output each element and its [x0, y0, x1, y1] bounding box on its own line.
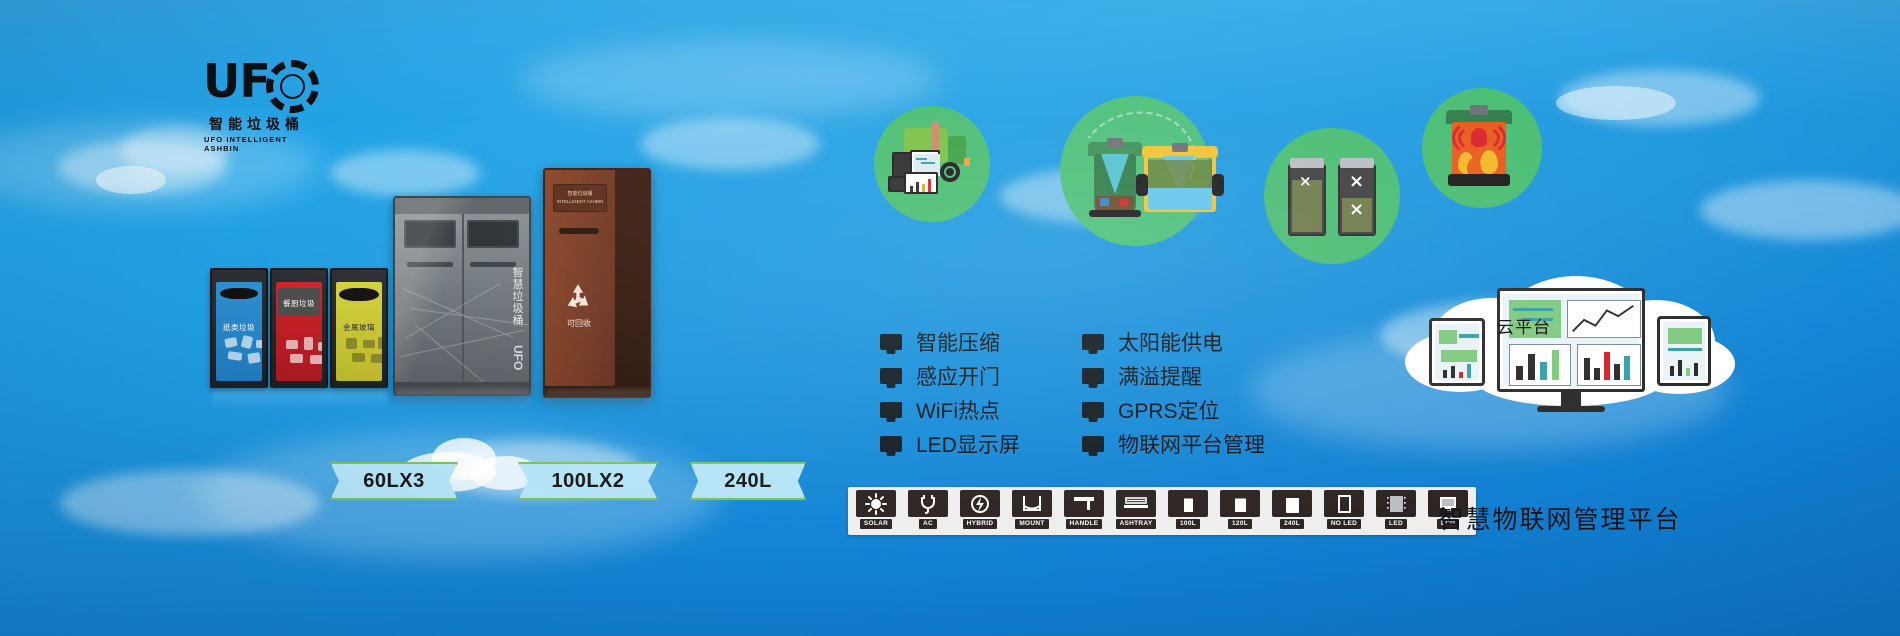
- spec-240l: 240L: [1268, 490, 1316, 532]
- spec-100l: 100L: [1164, 490, 1212, 532]
- spec-ac: AC: [904, 490, 952, 532]
- bin-graphics: [280, 334, 318, 377]
- fire-alarm-bin-icon: [1422, 88, 1542, 208]
- ashtray-icon: [1116, 490, 1156, 517]
- fill-level-sensor-circle: [1060, 96, 1210, 246]
- panel-subtitle: INTELLIGENT ASHBIN: [554, 199, 606, 204]
- spec-no-led: NO LED: [1320, 490, 1368, 532]
- bin-graphics: [340, 334, 378, 377]
- spec-hybrid: HYBRID: [956, 490, 1004, 532]
- feature-item: 智能压缩: [880, 325, 1020, 359]
- spec-caption: NO LED: [1327, 519, 1361, 529]
- bin-reflection: [545, 389, 651, 411]
- bin-graphics: [220, 334, 258, 377]
- feature-label: LED显示屏: [916, 429, 1020, 459]
- spec-mount: MOUNT: [1008, 490, 1056, 532]
- feature-label: 智能压缩: [916, 327, 1000, 357]
- feature-label: 太阳能供电: [1118, 327, 1223, 357]
- ribbon-label: 240L: [724, 470, 772, 493]
- iot-platform-illustration: [1405, 260, 1735, 450]
- monitor-bullet-icon: [880, 334, 902, 350]
- spec-caption: 100L: [1176, 519, 1200, 529]
- monitor-bullet-icon: [880, 436, 902, 452]
- double-compartment-bin: 智慧垃圾桶 UFO: [393, 196, 531, 396]
- feature-label: GPRS定位: [1118, 395, 1220, 425]
- bin-slot: [339, 288, 379, 301]
- feature-item: GPRS定位: [1082, 393, 1265, 427]
- ufo-ring-icon: [266, 60, 319, 113]
- monitor-bullet-icon: [880, 402, 902, 418]
- cloud-soft: [60, 470, 320, 536]
- bin-face: 纸类垃圾: [216, 282, 262, 381]
- spec-caption: AC: [919, 519, 937, 529]
- logo-wordmark: UF: [203, 58, 270, 104]
- bin-sheen: [395, 198, 529, 394]
- recycle-icon: [561, 280, 595, 314]
- feature-item: WiFi热点: [880, 393, 1020, 427]
- feature-item: 太阳能供电: [1082, 325, 1265, 359]
- cloud-puff: [96, 166, 166, 194]
- feature-item: 物联网平台管理: [1082, 427, 1265, 461]
- spec-handle: HANDLE: [1060, 490, 1108, 532]
- bin-dark-side: [615, 170, 649, 396]
- fleet-monitoring-circle: [874, 106, 990, 222]
- monitor-bullet-icon: [1082, 334, 1104, 350]
- logo-english-name: UFO INTELLIGENT ASHBIN: [204, 135, 323, 153]
- bin-100l-icon: [1168, 490, 1208, 517]
- spec-icon-strip: SOLAR AC HYBRID: [848, 487, 1476, 535]
- tablet-right: [1657, 316, 1711, 386]
- single-brown-bin: 智能垃圾桶 INTELLIGENT ASHBIN 可回收: [543, 168, 651, 398]
- feature-label: 满溢提醒: [1118, 361, 1202, 391]
- spec-caption: HANDLE: [1066, 519, 1103, 529]
- fire-alarm-circle: [1422, 88, 1542, 208]
- monitor-bullet-icon: [880, 368, 902, 384]
- twin-compactor-bin-icon: ⨯ ⨯ ⨯: [1264, 128, 1400, 264]
- monitor-bullet-icon: [1082, 436, 1104, 452]
- handle-icon: [1064, 490, 1104, 517]
- capacity-ribbon-240l: 240L: [690, 462, 806, 500]
- overflow-bin-icon: [1060, 96, 1210, 246]
- spec-caption: 120L: [1228, 519, 1252, 529]
- spec-solar: SOLAR: [852, 490, 900, 532]
- compress-marker-icon: ⨯: [1349, 200, 1364, 218]
- bin-reflection: [212, 389, 388, 411]
- brand-logo: UF 智能垃圾桶 UFO INTELLIGENT ASHBIN: [203, 58, 323, 150]
- feature-list-right: 太阳能供电 满溢提醒 GPRS定位 物联网平台管理: [1082, 325, 1265, 461]
- ribbon-label: 100LX2: [551, 470, 624, 493]
- sun-icon: [856, 490, 896, 517]
- spec-ashtray: ASHTRAY: [1112, 490, 1160, 532]
- bin-compartment-kitchen: 餐厨垃圾: [270, 268, 328, 388]
- power-plug-icon: [908, 490, 948, 517]
- bin-slot: [559, 228, 599, 234]
- spec-caption: 240L: [1280, 519, 1304, 529]
- spec-120l: 120L: [1216, 490, 1264, 532]
- logo-chinese-name: 智能垃圾桶: [209, 114, 304, 134]
- bin-control-panel: 智能垃圾桶 INTELLIGENT ASHBIN: [553, 184, 607, 212]
- monitor-bullet-icon: [1082, 368, 1104, 384]
- spec-caption: HYBRID: [963, 519, 998, 529]
- bin-reflection: [395, 389, 531, 411]
- monitor-base: [1537, 406, 1605, 412]
- capacity-ribbon-60lx3: 60LX3: [330, 462, 458, 500]
- bin-240l-icon: [1272, 490, 1312, 517]
- tablet-right-screen: [1663, 322, 1705, 380]
- bin-compartment-metal-glass: 金属玻璃: [330, 268, 388, 388]
- panel-title: 智能垃圾桶: [554, 190, 606, 197]
- compress-marker-icon: ⨯: [1299, 174, 1312, 189]
- feature-item: LED显示屏: [880, 427, 1020, 461]
- marketing-banner: UF 智能垃圾桶 UFO INTELLIGENT ASHBIN 纸类垃圾: [0, 0, 1900, 636]
- monitor-bullet-icon: [1082, 402, 1104, 418]
- feature-item: 感应开门: [880, 359, 1020, 393]
- bin-label: 餐厨垃圾: [276, 298, 322, 309]
- bin-face: 餐厨垃圾: [276, 282, 322, 381]
- cloud-soft: [1700, 180, 1900, 240]
- bin-label: 金属玻璃: [336, 322, 382, 333]
- hybrid-power-icon: [960, 490, 1000, 517]
- desktop-monitor-screen: [1503, 294, 1639, 386]
- feature-label: WiFi热点: [916, 395, 1000, 425]
- capacity-ribbon-100lx2: 100LX2: [518, 462, 658, 500]
- cloud-bubble-label: 云平台: [1470, 313, 1578, 338]
- cloud-soft: [640, 118, 820, 170]
- bin-slot: [220, 288, 258, 299]
- spec-caption: ASHTRAY: [1116, 519, 1157, 529]
- cloud-soft: [330, 150, 480, 196]
- three-compartment-bin: 纸类垃圾 餐厨垃圾: [210, 268, 388, 398]
- compress-marker-icon: ⨯: [1349, 172, 1364, 190]
- garbage-truck-dashboard-icon: [874, 106, 990, 222]
- wall-mount-icon: [1012, 490, 1052, 517]
- platform-title: 智慧物联网管理平台: [1400, 500, 1720, 536]
- feature-item: 满溢提醒: [1082, 359, 1265, 393]
- feature-label: 物联网平台管理: [1118, 429, 1265, 459]
- compaction-circle: ⨯ ⨯ ⨯: [1264, 128, 1400, 264]
- bin-face: 金属玻璃: [336, 282, 382, 381]
- bin-120l-icon: [1220, 490, 1260, 517]
- feature-list-left: 智能压缩 感应开门 WiFi热点 LED显示屏: [880, 325, 1020, 461]
- ribbon-label: 60LX3: [363, 470, 424, 493]
- desktop-monitor: [1497, 288, 1645, 392]
- spec-caption: MOUNT: [1015, 519, 1048, 529]
- bin-label: 纸类垃圾: [216, 322, 262, 333]
- bin-compartment-paper: 纸类垃圾: [210, 268, 268, 388]
- feature-label: 感应开门: [916, 361, 1000, 391]
- recycle-label: 可回收: [551, 318, 607, 329]
- spec-caption: SOLAR: [860, 519, 892, 529]
- no-led-icon: [1324, 490, 1364, 517]
